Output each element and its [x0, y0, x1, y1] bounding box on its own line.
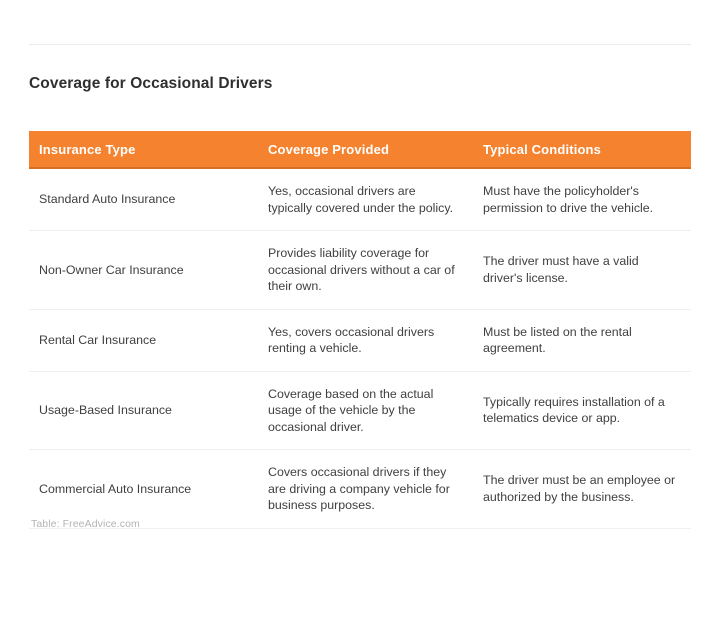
page-title: Coverage for Occasional Drivers — [29, 74, 272, 94]
cell-coverage-provided: Covers occasional drivers if they are dr… — [258, 450, 473, 529]
cell-insurance-type: Non-Owner Car Insurance — [29, 231, 258, 310]
table-header-row: Insurance Type Coverage Provided Typical… — [29, 131, 691, 169]
table-header: Insurance Type Coverage Provided Typical… — [29, 131, 691, 169]
coverage-table: Insurance Type Coverage Provided Typical… — [29, 131, 691, 529]
page-root: Coverage for Occasional Drivers Insuranc… — [0, 0, 720, 618]
cell-coverage-provided: Yes, occasional drivers are typically co… — [258, 169, 473, 231]
column-header-typical-conditions: Typical Conditions — [473, 131, 691, 169]
cell-typical-conditions: Must be listed on the rental agreement. — [473, 309, 691, 371]
cell-typical-conditions: Must have the policyholder's permission … — [473, 169, 691, 231]
coverage-table-container: Insurance Type Coverage Provided Typical… — [29, 131, 691, 529]
cell-typical-conditions: Typically requires installation of a tel… — [473, 371, 691, 450]
table-row: Rental Car Insurance Yes, covers occasio… — [29, 309, 691, 371]
column-header-insurance-type: Insurance Type — [29, 131, 258, 169]
cell-insurance-type: Rental Car Insurance — [29, 309, 258, 371]
cell-typical-conditions: The driver must be an employee or author… — [473, 450, 691, 529]
cell-coverage-provided: Yes, covers occasional drivers renting a… — [258, 309, 473, 371]
table-row: Commercial Auto Insurance Covers occasio… — [29, 450, 691, 529]
table-body: Standard Auto Insurance Yes, occasional … — [29, 169, 691, 528]
cell-typical-conditions: The driver must have a valid driver's li… — [473, 231, 691, 310]
table-row: Non-Owner Car Insurance Provides liabili… — [29, 231, 691, 310]
column-header-coverage-provided: Coverage Provided — [258, 131, 473, 169]
cell-insurance-type: Commercial Auto Insurance — [29, 450, 258, 529]
table-row: Standard Auto Insurance Yes, occasional … — [29, 169, 691, 231]
cell-insurance-type: Standard Auto Insurance — [29, 169, 258, 231]
table-row: Usage-Based Insurance Coverage based on … — [29, 371, 691, 450]
cell-coverage-provided: Coverage based on the actual usage of th… — [258, 371, 473, 450]
table-source-caption: Table: FreeAdvice.com — [31, 518, 140, 530]
top-divider — [29, 44, 691, 45]
cell-coverage-provided: Provides liability coverage for occasion… — [258, 231, 473, 310]
cell-insurance-type: Usage-Based Insurance — [29, 371, 258, 450]
